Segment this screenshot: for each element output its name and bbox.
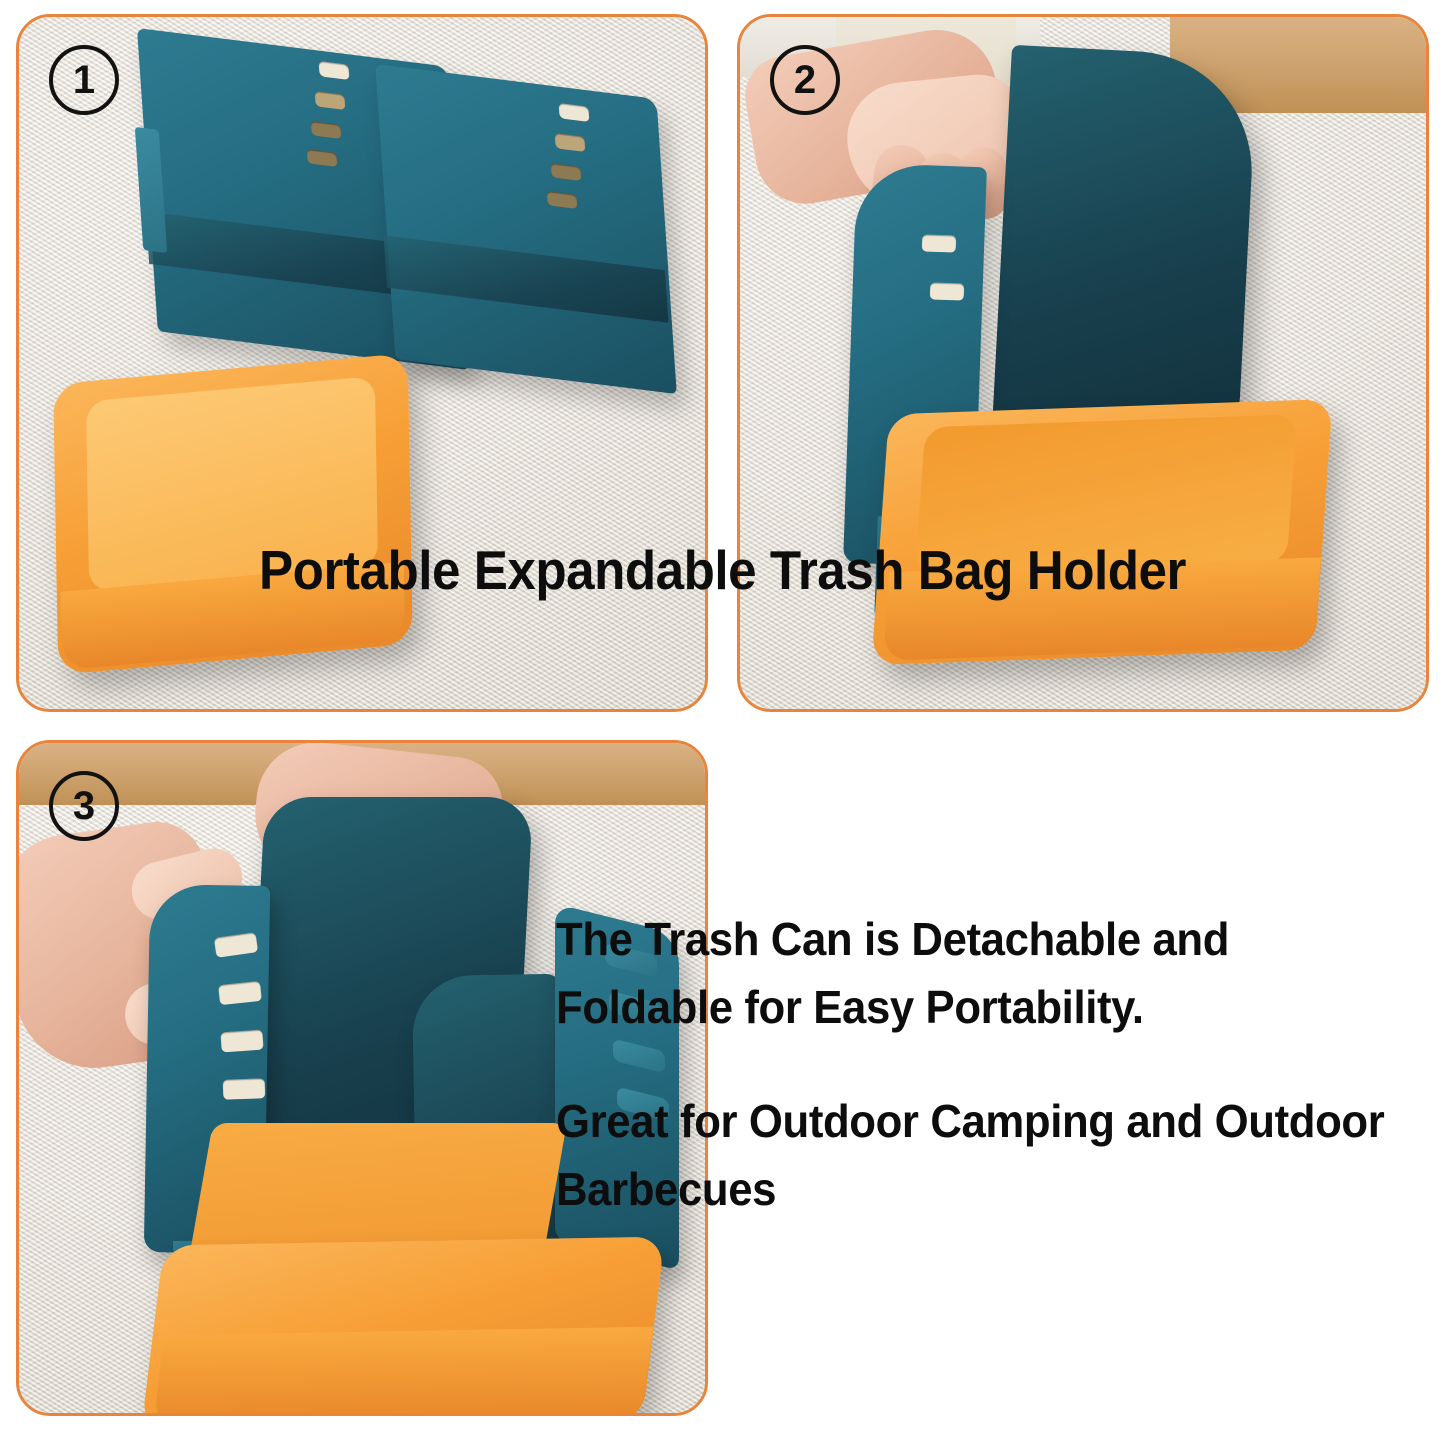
teal-wall-part-right: [375, 64, 677, 394]
slot-icon: [220, 1030, 263, 1053]
step-badge-2: 2: [770, 45, 840, 115]
step-badge-1: 1: [49, 45, 119, 115]
step-1-photo: [19, 17, 705, 709]
slot-icon: [223, 1078, 266, 1099]
slot-icon: [930, 282, 965, 300]
orange-tray-front-rim: [153, 1327, 653, 1413]
step-badge-3: 3: [49, 771, 119, 841]
step-panel-1: 1: [16, 14, 708, 712]
feature-copy-line-2: Great for Outdoor Camping and Outdoor Ba…: [556, 1087, 1402, 1223]
step-2-photo: [740, 17, 1426, 709]
page-title: Portable Expandable Trash Bag Holder: [51, 543, 1395, 598]
feature-copy-block: The Trash Can is Detachable and Foldable…: [556, 905, 1445, 1223]
teal-lid-panel: [992, 45, 1258, 437]
slot-icon: [922, 234, 957, 252]
step-panel-2: 2: [737, 14, 1429, 712]
feature-copy-line-1: The Trash Can is Detachable and Foldable…: [556, 905, 1402, 1041]
